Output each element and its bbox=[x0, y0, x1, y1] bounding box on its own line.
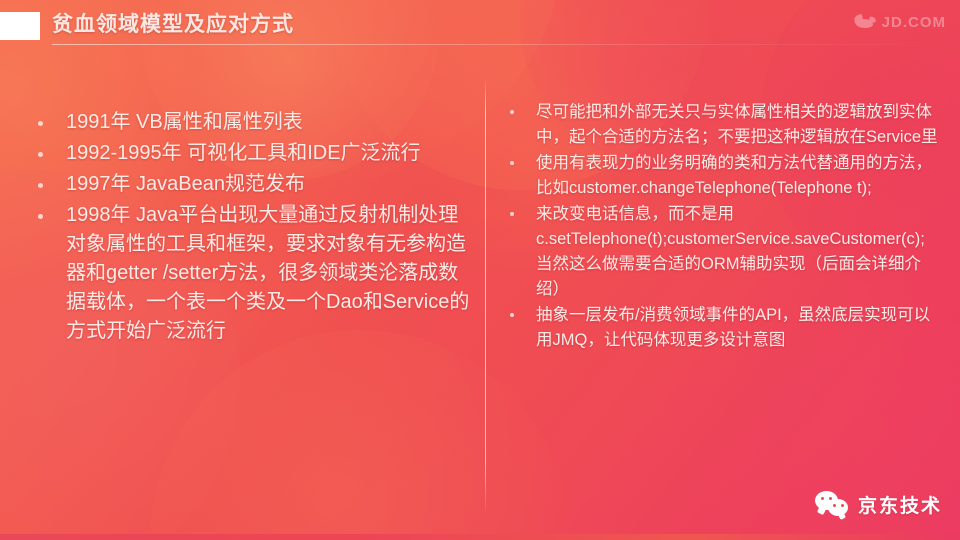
wechat-icon bbox=[815, 491, 849, 518]
list-item: 1992-1995年 可视化工具和IDE广泛流行 bbox=[30, 139, 470, 168]
list-item: 1991年 VB属性和属性列表 bbox=[30, 108, 470, 137]
left-column: 1991年 VB属性和属性列表 1992-1995年 可视化工具和IDE广泛流行… bbox=[30, 108, 470, 348]
column-divider bbox=[485, 78, 486, 514]
list-item: 1998年 Java平台出现大量通过反射机制处理对象属性的工具和框架，要求对象有… bbox=[30, 201, 470, 346]
list-item: 来改变电话信息，而不是用c.setTelephone(t);customerSe… bbox=[500, 202, 940, 302]
list-item: 1997年 JavaBean规范发布 bbox=[30, 170, 470, 199]
title-marker-chip bbox=[0, 12, 40, 40]
list-item: 使用有表现力的业务明确的类和方法代替通用的方法，比如customer.chang… bbox=[500, 151, 940, 201]
wechat-watermark: 京东技术 bbox=[815, 491, 942, 518]
list-item: 尽可能把和外部无关只与实体属性相关的逻辑放到实体中，起个合适的方法名；不要把这种… bbox=[500, 100, 940, 150]
right-bullet-list: 尽可能把和外部无关只与实体属性相关的逻辑放到实体中，起个合适的方法名；不要把这种… bbox=[500, 100, 940, 353]
left-bullet-list: 1991年 VB属性和属性列表 1992-1995年 可视化工具和IDE广泛流行… bbox=[30, 108, 470, 346]
page-title: 贫血领域模型及应对方式 bbox=[52, 10, 294, 40]
jd-brand-text: JD.COM bbox=[882, 14, 946, 31]
right-column: 尽可能把和外部无关只与实体属性相关的逻辑放到实体中，起个合适的方法名；不要把这种… bbox=[500, 100, 940, 354]
bottom-edge-strip bbox=[0, 534, 960, 540]
wechat-account-name: 京东技术 bbox=[858, 491, 942, 518]
jd-dog-icon bbox=[854, 15, 876, 31]
jd-brand-logo: JD.COM bbox=[854, 14, 946, 31]
slide-body: 1991年 VB属性和属性列表 1992-1995年 可视化工具和IDE广泛流行… bbox=[0, 50, 960, 540]
slide-header: 贫血领域模型及应对方式 JD.COM bbox=[0, 0, 960, 50]
list-item: 抽象一层发布/消费领域事件的API，虽然底层实现可以用JMQ，让代码体现更多设计… bbox=[500, 303, 940, 353]
slide: 贫血领域模型及应对方式 JD.COM 1991年 VB属性和属性列表 1992-… bbox=[0, 0, 960, 540]
header-divider bbox=[52, 44, 960, 45]
